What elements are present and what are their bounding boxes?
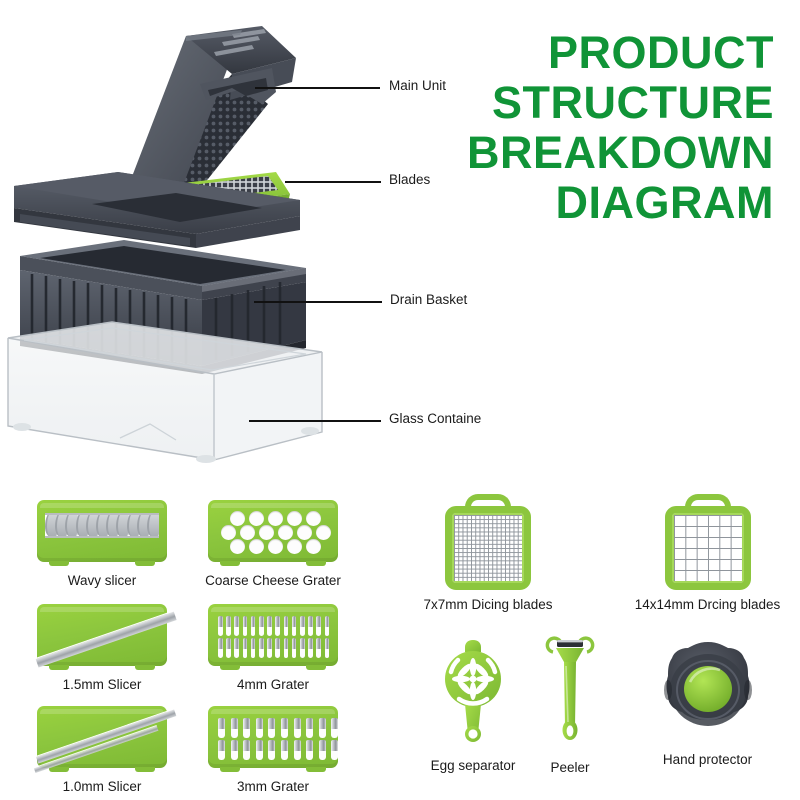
accessory-label-slicer-15mm: 1.5mm Slicer [22, 677, 182, 693]
accessory-hand-protector[interactable]: Hand protector [620, 640, 795, 768]
peeler-icon [544, 636, 596, 748]
cheese-grater-body [208, 500, 338, 562]
page-title: PRODUCT STRUCTURE BREAKDOWN DIAGRAM [354, 28, 774, 228]
cheese-grater-holes [208, 500, 338, 562]
leader-line-blades [285, 181, 381, 183]
accessory-label-dicing-7x7: 7x7mm Dicing blades [408, 597, 568, 613]
accessory-dicing-14x14[interactable]: 14x14mm Drcing blades [620, 494, 795, 613]
leader-line-glass-container [249, 420, 381, 422]
grater-3mm-teeth [208, 706, 338, 768]
dicing-grid-coarse [674, 515, 742, 581]
insert-rim [40, 709, 164, 714]
dicer-frame [445, 506, 531, 590]
accessory-slicer-10mm[interactable]: 1.0mm Slicer [22, 706, 182, 795]
accessory-label-peeler: Peeler [522, 760, 618, 776]
wavy-slicer-body [37, 500, 167, 562]
slicer-15mm-body [37, 604, 167, 666]
accessory-grater-3mm[interactable]: 3mm Grater [188, 706, 358, 795]
accessory-gallery: Wavy slicer Coarse Cheese Grater 1.5mm S… [0, 488, 800, 800]
accessory-grater-4mm[interactable]: 4mm Grater [188, 604, 358, 693]
accessory-dicing-7x7[interactable]: 7x7mm Dicing blades [408, 494, 568, 613]
accessory-wavy-slicer[interactable]: Wavy slicer [22, 500, 182, 589]
accessory-label-hand-protector: Hand protector [620, 752, 795, 768]
callout-label-main-unit: Main Unit [389, 78, 446, 93]
leader-line-main-unit [255, 87, 380, 89]
diagonal-blade [35, 611, 176, 668]
insert-rim [40, 607, 164, 612]
diagonal-blade-upper [36, 708, 177, 763]
grater-3mm-body [208, 706, 338, 768]
accessory-label-slicer-10mm: 1.0mm Slicer [22, 779, 182, 795]
exploded-product-illustration [0, 8, 330, 478]
accessory-label-coarse-cheese-grater: Coarse Cheese Grater [188, 573, 358, 589]
product-structure-diagram: PRODUCT STRUCTURE BREAKDOWN DIAGRAM [0, 0, 800, 800]
dicing-grid-fine [454, 515, 522, 581]
callout-label-blades: Blades [389, 172, 430, 187]
dicer-frame [665, 506, 751, 590]
grater-4mm-body [208, 604, 338, 666]
accessory-label-wavy-slicer: Wavy slicer [22, 573, 182, 589]
grater-4mm-teeth [208, 604, 338, 666]
callout-label-drain-basket: Drain Basket [390, 292, 467, 307]
dicing-7x7-body [445, 494, 531, 590]
accessory-peeler[interactable]: Peeler [522, 636, 618, 776]
egg-separator-icon [442, 638, 504, 746]
dicing-14x14-body [665, 494, 751, 590]
accessory-coarse-cheese-grater[interactable]: Coarse Cheese Grater [188, 500, 358, 589]
title-line-1: PRODUCT [354, 28, 774, 78]
accessory-label-grater-3mm: 3mm Grater [188, 779, 358, 795]
title-line-3: BREAKDOWN [354, 128, 774, 178]
wavy-blade-strip [45, 513, 159, 538]
hand-protector-icon [656, 640, 760, 740]
leader-line-drain-basket [254, 301, 382, 303]
accessory-label-dicing-14x14: 14x14mm Drcing blades [620, 597, 795, 613]
slicer-10mm-body [37, 706, 167, 768]
insert-rim [40, 503, 164, 508]
accessory-slicer-15mm[interactable]: 1.5mm Slicer [22, 604, 182, 693]
accessory-label-grater-4mm: 4mm Grater [188, 677, 358, 693]
callout-label-glass-container: Glass Containe [389, 411, 481, 426]
